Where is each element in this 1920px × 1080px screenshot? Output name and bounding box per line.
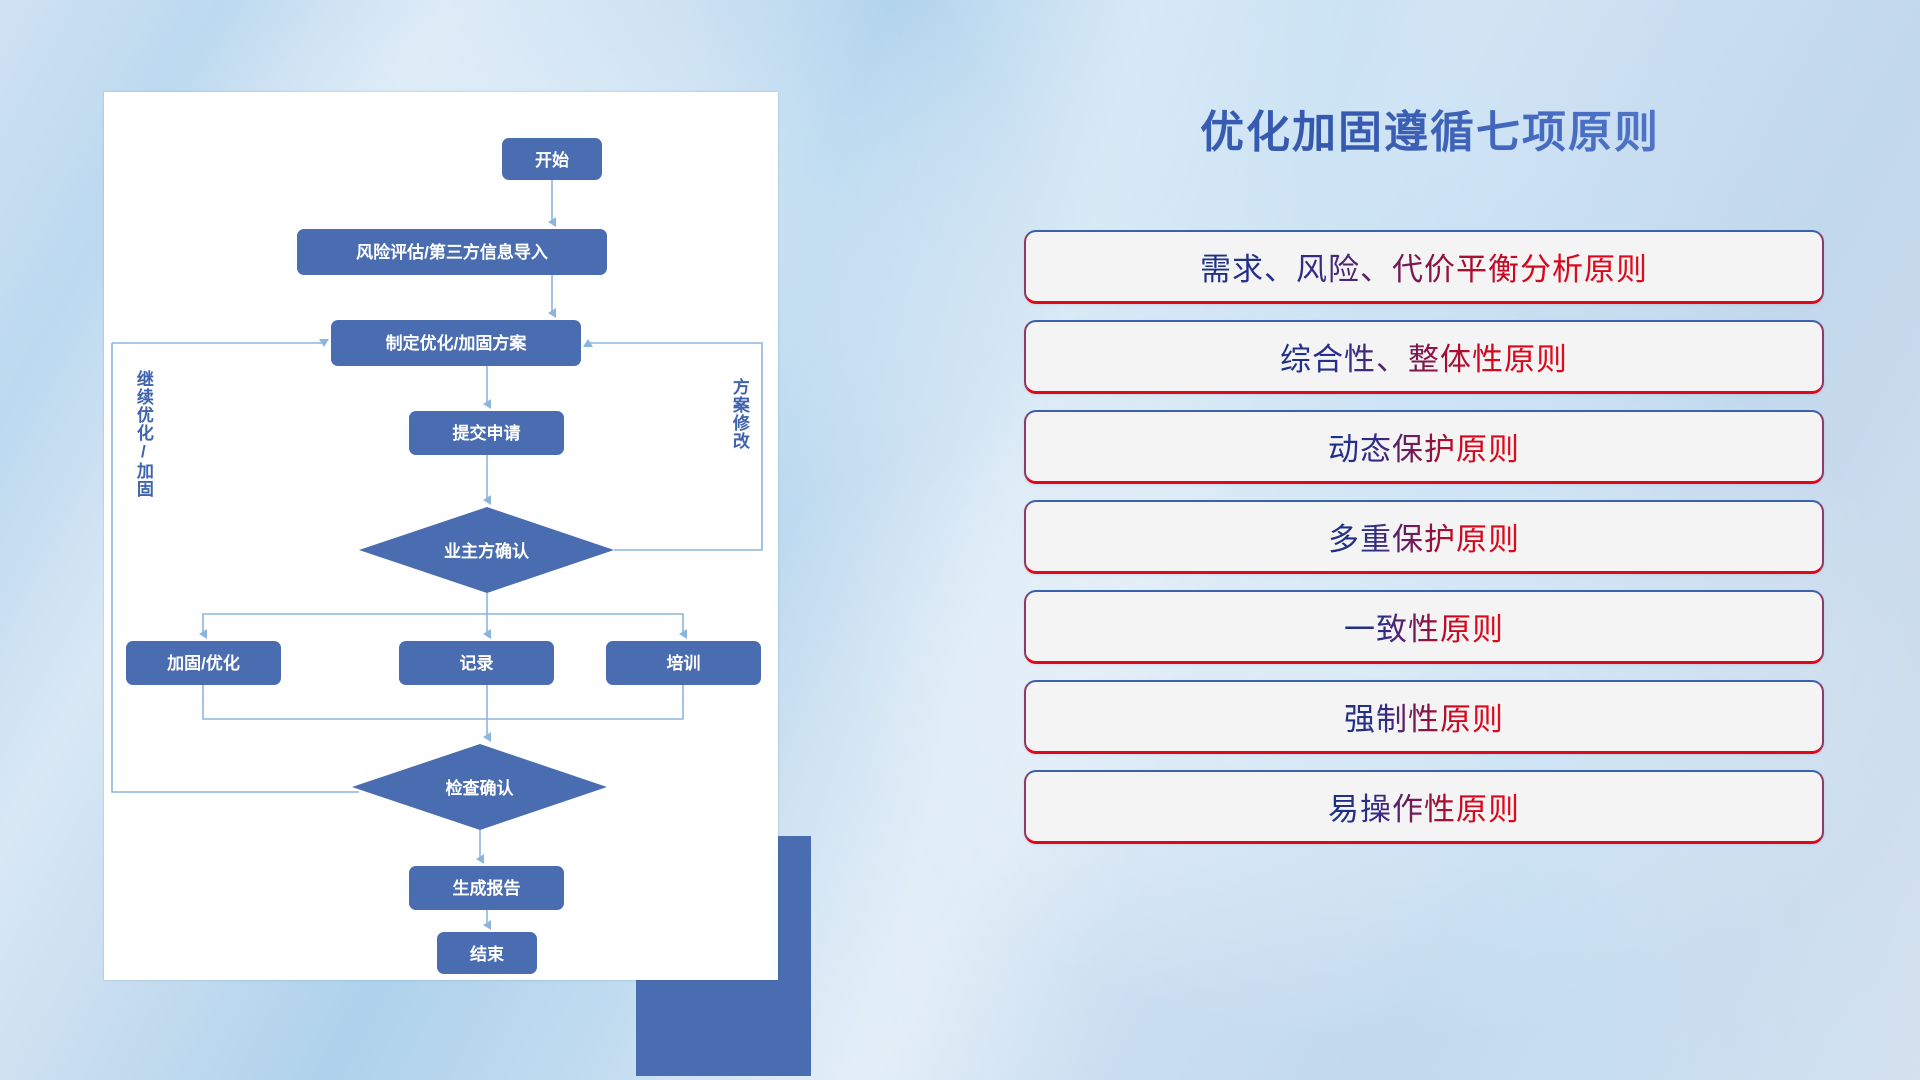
principle-card-label: 多重保护原则 bbox=[1328, 514, 1520, 559]
flow-node-shapes bbox=[126, 138, 761, 974]
principle-card-6[interactable]: 强制性原则 bbox=[1024, 680, 1824, 754]
principle-card-label: 需求、风险、代价平衡分析原则 bbox=[1200, 244, 1648, 289]
principle-card-7[interactable]: 易操作性原则 bbox=[1024, 770, 1824, 844]
slide-canvas: 开始 风险评估/第三方信息导入 制定优化/加固方案 提交申请 业主方确认 加固/… bbox=[0, 0, 1920, 1080]
principle-card-5[interactable]: 一致性原则 bbox=[1024, 590, 1824, 664]
flowchart-white-card: 开始 风险评估/第三方信息导入 制定优化/加固方案 提交申请 业主方确认 加固/… bbox=[104, 92, 778, 980]
principle-card-1[interactable]: 需求、风险、代价平衡分析原则 bbox=[1024, 230, 1824, 304]
flowchart-connectors bbox=[104, 92, 778, 980]
flowchart-panel: 开始 风险评估/第三方信息导入 制定优化/加固方案 提交申请 业主方确认 加固/… bbox=[104, 92, 784, 982]
flow-edge-label-continue-optimize: 继续优化/加固 bbox=[134, 370, 152, 498]
flow-edge-label-plan-revision: 方案修改 bbox=[730, 378, 748, 450]
principles-panel: 优化加固遵循七项原则 需求、风险、代价平衡分析原则 综合性、整体性原则 动态保护… bbox=[1020, 96, 1840, 996]
principle-card-label: 易操作性原则 bbox=[1328, 784, 1520, 829]
principle-card-label: 一致性原则 bbox=[1344, 604, 1504, 649]
principles-list: 需求、风险、代价平衡分析原则 综合性、整体性原则 动态保护原则 多重保护原则 一… bbox=[1024, 230, 1824, 860]
principle-card-2[interactable]: 综合性、整体性原则 bbox=[1024, 320, 1824, 394]
page-title: 优化加固遵循七项原则 bbox=[1020, 96, 1840, 160]
principle-card-4[interactable]: 多重保护原则 bbox=[1024, 500, 1824, 574]
principle-card-3[interactable]: 动态保护原则 bbox=[1024, 410, 1824, 484]
principle-card-label: 动态保护原则 bbox=[1328, 424, 1520, 469]
principle-card-label: 强制性原则 bbox=[1344, 694, 1504, 739]
principle-card-label: 综合性、整体性原则 bbox=[1280, 334, 1568, 379]
